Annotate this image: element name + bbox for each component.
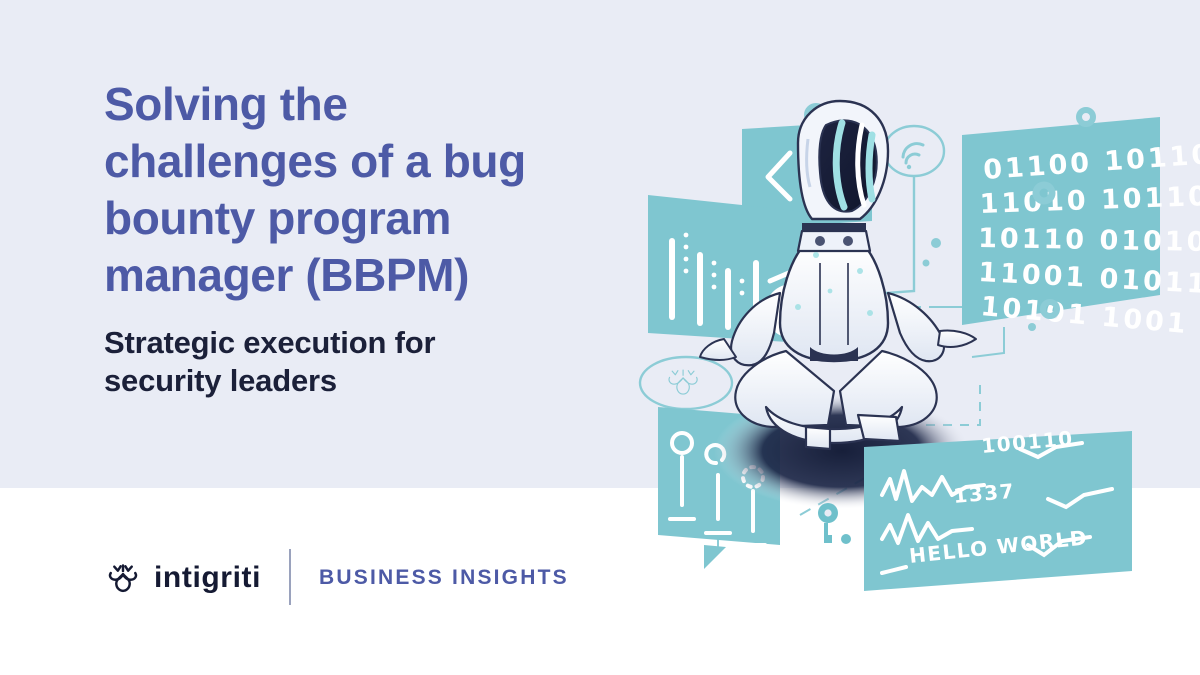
binary-screen: 01100 10110 11010 10110 10110 01010 1100… bbox=[962, 117, 1200, 357]
footer-tagline: BUSINESS INSIGHTS bbox=[319, 567, 569, 588]
intigriti-bee-icon bbox=[104, 558, 142, 596]
page-subtitle: Strategic execution for security leaders bbox=[104, 324, 624, 400]
wifi-icon bbox=[884, 126, 944, 293]
footer-divider bbox=[289, 549, 291, 605]
page-title: Solving the challenges of a bug bounty p… bbox=[104, 76, 624, 304]
key-icon bbox=[818, 503, 851, 544]
poster-canvas: Solving the challenges of a bug bounty p… bbox=[0, 0, 1200, 675]
waveform-screen: 100110 1337 HELLO WORLD bbox=[864, 426, 1132, 591]
intigriti-wordmark: intigriti bbox=[154, 563, 261, 593]
svg-text:10110 01010: 10110 01010 bbox=[978, 223, 1200, 258]
bee-badge-icon bbox=[640, 357, 732, 409]
hero-illustration: 01100 10110 11010 10110 10110 01010 1100… bbox=[620, 95, 1200, 595]
headline-block: Solving the challenges of a bug bounty p… bbox=[104, 76, 624, 400]
footer-brand-bar: intigriti BUSINESS INSIGHTS bbox=[104, 545, 569, 609]
